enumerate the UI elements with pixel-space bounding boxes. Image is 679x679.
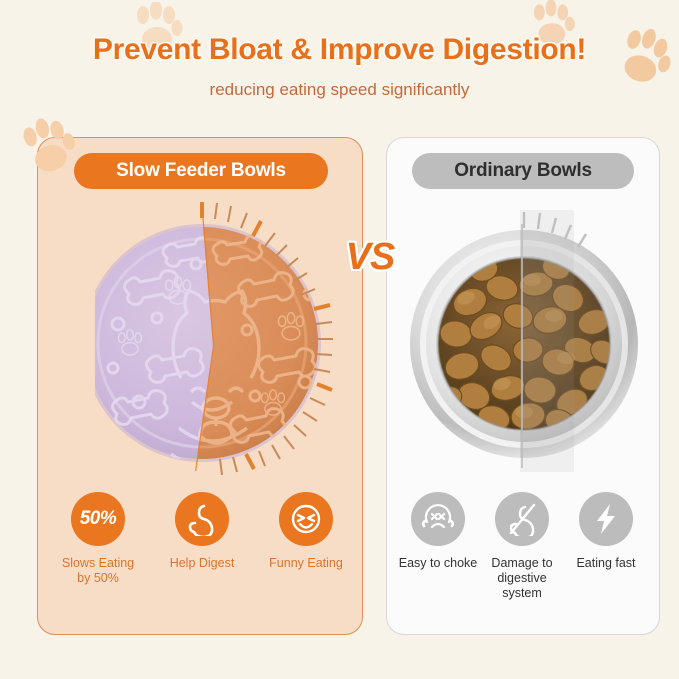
stomach-crossed-out-icon (495, 492, 549, 546)
lightning-bolt-icon (579, 492, 633, 546)
slow-feeder-bowl-image (95, 196, 345, 481)
ordinary-bowl-image (398, 210, 650, 472)
feature-slows-eating: 50% Slows Eating by 50% (52, 492, 144, 586)
winking-smiley-icon (279, 492, 333, 546)
page-subtitle: reducing eating speed significantly (0, 80, 679, 100)
feature-eating-fast: Eating fast (566, 492, 646, 601)
page-title: Prevent Bloat & Improve Digestion! (0, 33, 679, 67)
fifty-percent-text: 50% (80, 508, 117, 530)
feature-damage-digestive: Damage to digestive system (482, 492, 562, 601)
slow-feeder-title-badge: Slow Feeder Bowls (74, 153, 328, 189)
vs-badge: VS (330, 236, 410, 279)
feature-label: Help Digest (170, 556, 235, 571)
feature-label: Damage to digestive system (482, 556, 562, 601)
stomach-icon (175, 492, 229, 546)
ordinary-bowl-features: Easy to choke Damage to digestive system… (398, 492, 646, 601)
slow-feeder-title-text: Slow Feeder Bowls (116, 160, 286, 182)
choking-face-icon (411, 492, 465, 546)
feature-label: Slows Eating by 50% (62, 556, 134, 586)
ordinary-bowl-title-badge: Ordinary Bowls (412, 153, 634, 189)
feature-easy-to-choke: Easy to choke (398, 492, 478, 601)
feature-label: Funny Eating (269, 556, 343, 571)
feature-label: Easy to choke (399, 556, 478, 571)
feature-label: Eating fast (576, 556, 635, 571)
slow-feeder-features: 50% Slows Eating by 50% Help Digest (52, 492, 352, 586)
feature-funny-eating: Funny Eating (260, 492, 352, 586)
feature-help-digest: Help Digest (156, 492, 248, 586)
ordinary-bowl-title-text: Ordinary Bowls (454, 160, 592, 182)
fifty-percent-icon: 50% (71, 492, 125, 546)
infographic-canvas: Prevent Bloat & Improve Digestion! reduc… (0, 0, 679, 679)
